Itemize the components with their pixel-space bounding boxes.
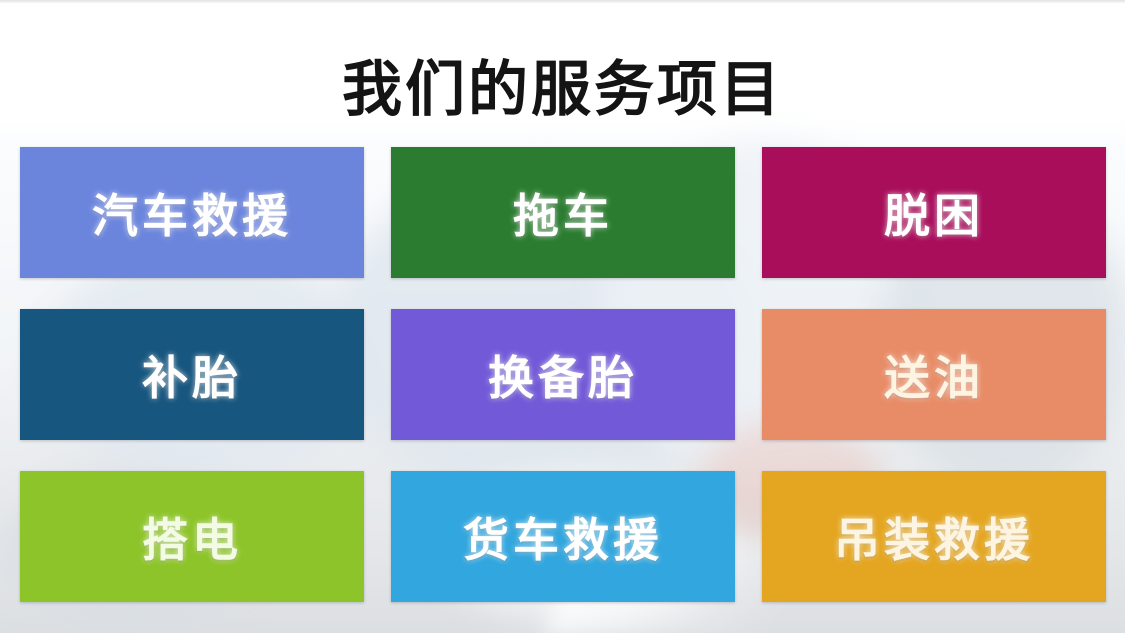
service-tile-jump-start[interactable]: 搭电 — [20, 471, 364, 602]
service-poster: 我们的服务项目 汽车救援 拖车 脱困 补胎 换备胎 送油 搭电 货车救援 吊装救… — [0, 0, 1125, 633]
service-tile-crane-rescue[interactable]: 吊装救援 — [762, 471, 1106, 602]
service-tile-truck-rescue[interactable]: 货车救援 — [391, 471, 735, 602]
service-tile-label: 换备胎 — [488, 342, 638, 408]
service-tile-label: 汽车救援 — [92, 180, 292, 246]
page-title: 我们的服务项目 — [342, 56, 783, 125]
service-tile-roadside-assistance[interactable]: 汽车救援 — [20, 147, 364, 278]
top-divider — [0, 0, 1125, 3]
service-tile-towing[interactable]: 拖车 — [391, 147, 735, 278]
service-tile-tire-repair[interactable]: 补胎 — [20, 309, 364, 440]
service-tile-label: 搭电 — [142, 504, 242, 570]
service-tile-label: 补胎 — [142, 342, 242, 408]
service-tile-label: 吊装救援 — [834, 504, 1034, 570]
service-tile-label: 送油 — [884, 342, 984, 408]
service-tile-label: 拖车 — [513, 180, 613, 246]
page-title-container: 我们的服务项目 — [0, 16, 1125, 165]
service-tile-fuel-delivery[interactable]: 送油 — [762, 309, 1106, 440]
service-tile-grid: 汽车救援 拖车 脱困 补胎 换备胎 送油 搭电 货车救援 吊装救援 — [20, 147, 1102, 602]
service-tile-label: 货车救援 — [463, 504, 663, 570]
service-tile-extrication[interactable]: 脱困 — [762, 147, 1106, 278]
service-tile-spare-tire-change[interactable]: 换备胎 — [391, 309, 735, 440]
service-tile-label: 脱困 — [884, 180, 984, 246]
